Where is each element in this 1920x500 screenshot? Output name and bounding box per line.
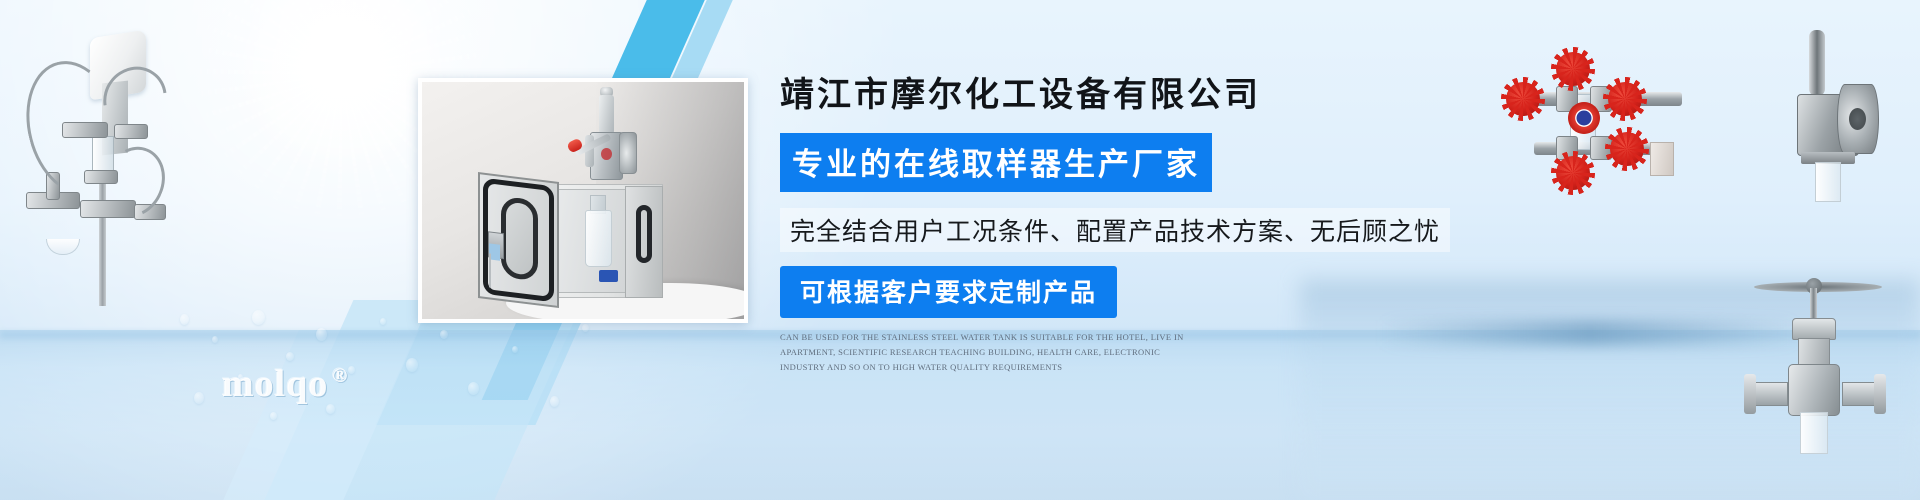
promo-banner: 靖江市摩尔化工设备有限公司 专业的在线取样器生产厂家 完全结合用户工况条件、配置…: [0, 0, 1920, 500]
brand-badge: [601, 148, 612, 160]
subheadline-text: 完全结合用户工况条件、配置产品技术方案、无后顾之忧: [780, 208, 1450, 252]
red-handwheel-cross-valve-illustration: [1498, 38, 1698, 178]
valve-handwheel: [1556, 156, 1590, 190]
watermark-logo: molqo®: [222, 362, 348, 406]
flanged-valve-illustration: [1795, 26, 1915, 196]
company-seal-logo: [1568, 102, 1600, 134]
cabinet-door: [478, 172, 559, 307]
valve-handwheel: [1556, 52, 1590, 86]
english-description: CAN BE USED FOR THE STAINLESS STEEL WATE…: [780, 330, 1200, 375]
banner-text-block: 靖江市摩尔化工设备有限公司 专业的在线取样器生产厂家 完全结合用户工况条件、配置…: [780, 76, 1420, 374]
pole-mounted-sampler-illustration: [6, 24, 176, 304]
sample-bottle: [585, 210, 612, 267]
valve-handwheel: [1506, 82, 1540, 116]
product-photo: [418, 78, 748, 323]
custom-product-pill: 可根据客户要求定制产品: [780, 266, 1117, 318]
watermark-text: molqo: [222, 363, 328, 405]
water-droplets-texture: [120, 300, 640, 500]
water-streak: [1380, 320, 1800, 346]
gate-valve-illustration: [1740, 252, 1890, 422]
valve-handwheel: [1608, 82, 1642, 116]
valve-assembly: [567, 87, 657, 189]
valve-handwheel: [1610, 132, 1644, 166]
registered-trademark-icon: ®: [332, 365, 348, 387]
headline-banner: 专业的在线取样器生产厂家: [780, 133, 1212, 192]
company-title: 靖江市摩尔化工设备有限公司: [780, 76, 1420, 117]
